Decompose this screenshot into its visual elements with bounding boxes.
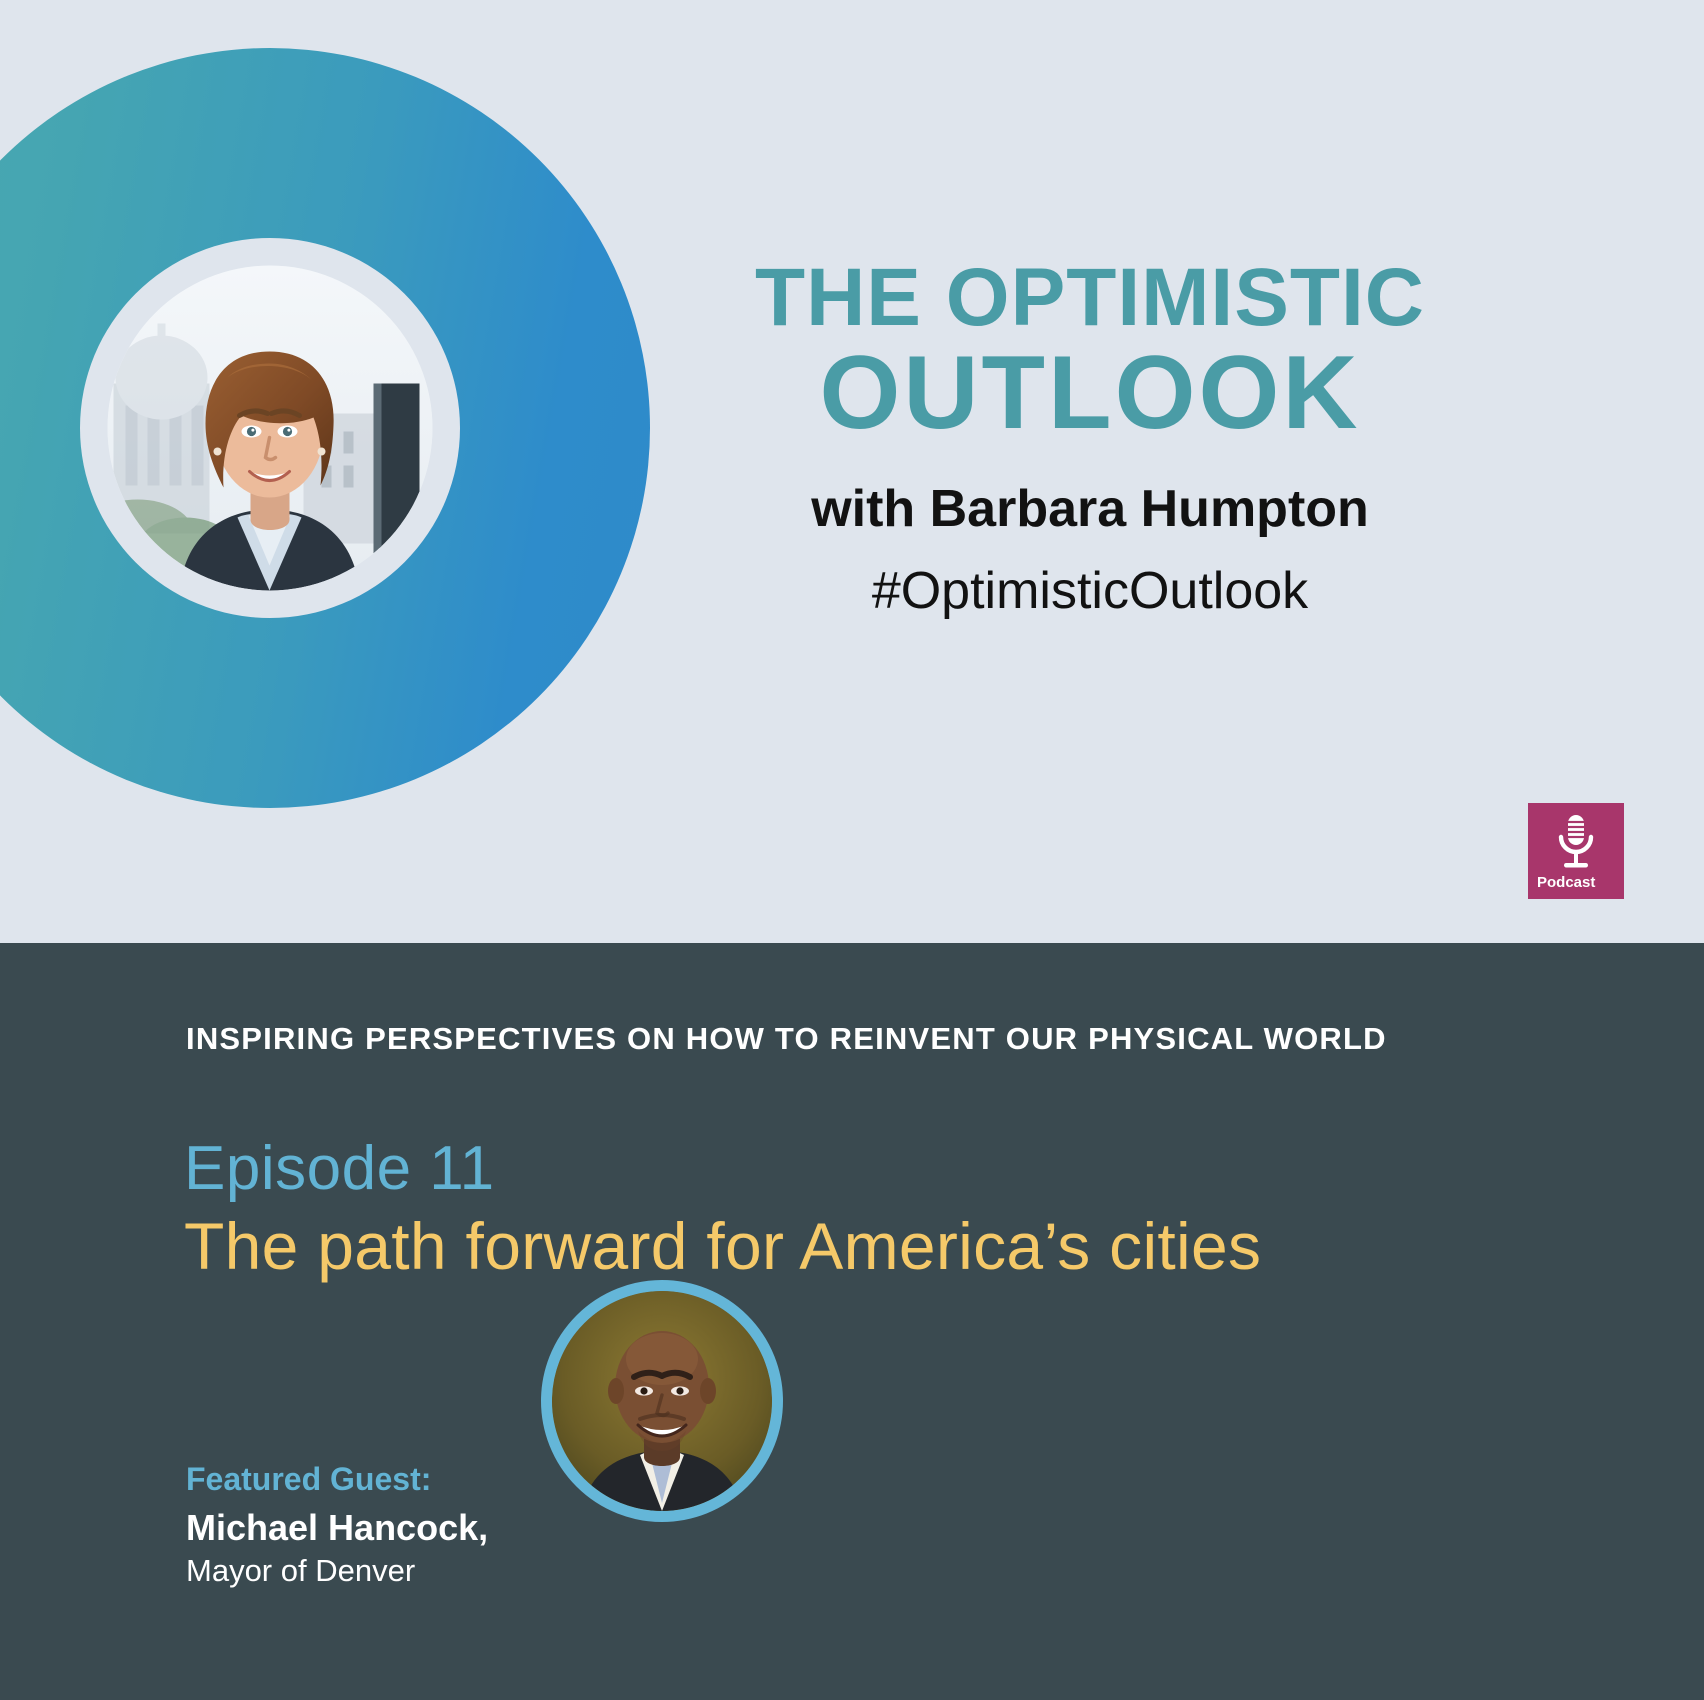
tagline: INSPIRING PERSPECTIVES ON HOW TO REINVEN…: [186, 1021, 1387, 1057]
podcast-badge-label: Podcast: [1537, 874, 1595, 891]
guest-avatar-image: [552, 1291, 772, 1511]
brand-ring-logo: [0, 48, 650, 808]
featured-guest-label: Featured Guest:: [186, 1459, 516, 1499]
hashtag: #OptimisticOutlook: [740, 560, 1440, 622]
featured-guest-role: Mayor of Denver: [186, 1552, 516, 1591]
episode-number: Episode 11: [184, 1133, 495, 1204]
podcast-badge[interactable]: Podcast: [1528, 803, 1624, 899]
episode-section: INSPIRING PERSPECTIVES ON HOW TO REINVEN…: [0, 943, 1704, 1700]
guest-avatar: [541, 1280, 783, 1522]
host-avatar: [108, 266, 433, 591]
featured-guest-name: Michael Hancock,: [186, 1505, 516, 1550]
header-section: THE OPTIMISTIC OUTLOOK with Barbara Hump…: [0, 0, 1704, 943]
host-byline: with Barbara Humpton: [740, 478, 1440, 540]
brand-title-line-1: THE OPTIMISTIC: [740, 258, 1440, 338]
featured-guest-block: Featured Guest: Michael Hancock, Mayor o…: [186, 1459, 516, 1591]
microphone-icon: [1528, 813, 1624, 873]
brand-title-block: THE OPTIMISTIC OUTLOOK with Barbara Hump…: [740, 258, 1440, 623]
podcast-episode-poster: THE OPTIMISTIC OUTLOOK with Barbara Hump…: [0, 0, 1704, 1700]
episode-title: The path forward for America’s cities: [184, 1208, 1261, 1284]
brand-title-line-2: OUTLOOK: [740, 338, 1440, 448]
